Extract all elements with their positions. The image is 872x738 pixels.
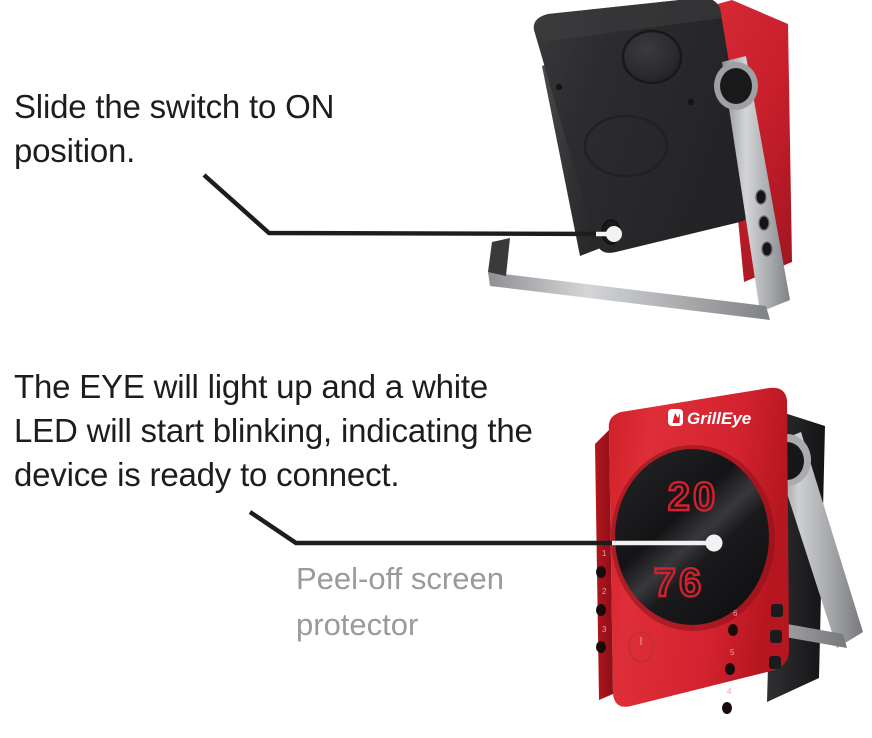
peel-off-screen-protector-label: Peel-off screen protector (296, 556, 596, 648)
step-2-instruction-text: The EYE will light up and a white LED wi… (14, 365, 554, 497)
battery-compartment-recess (623, 31, 681, 83)
device-rear-view-image (470, 0, 872, 340)
probe-port-label-6: 6 (733, 609, 738, 618)
step-1-instruction-text: Slide the switch to ON position. (14, 85, 444, 173)
rear-screw-hole-right (688, 99, 694, 105)
kickstand-base-bar (488, 238, 770, 320)
device-front-view-image: GrillEye 20 76 1 2 3 (575, 382, 872, 738)
probe-port-label-1: 1 (602, 549, 607, 558)
peel-off-label-line-1: Peel-off screen (296, 556, 596, 602)
rear-screw-hole-left (556, 84, 562, 90)
display-bottom-reading: 76 (654, 561, 705, 605)
probe-port-label-4: 4 (727, 687, 732, 696)
instruction-page: Slide the switch to ON position. The EYE… (0, 0, 872, 738)
probe-port-label-5: 5 (730, 648, 735, 657)
side-buttons[interactable] (769, 604, 783, 669)
display-top-reading: 20 (668, 475, 719, 519)
circular-display: 20 76 (611, 445, 775, 631)
probe-port-label-3: 3 (602, 625, 607, 634)
brand-name-text: GrillEye (687, 409, 751, 428)
probe-port-label-2: 2 (602, 587, 607, 596)
power-slide-switch[interactable] (602, 220, 620, 244)
peel-off-label-line-2: protector (296, 602, 596, 648)
grilleye-brand-logo: GrillEye (668, 409, 751, 428)
